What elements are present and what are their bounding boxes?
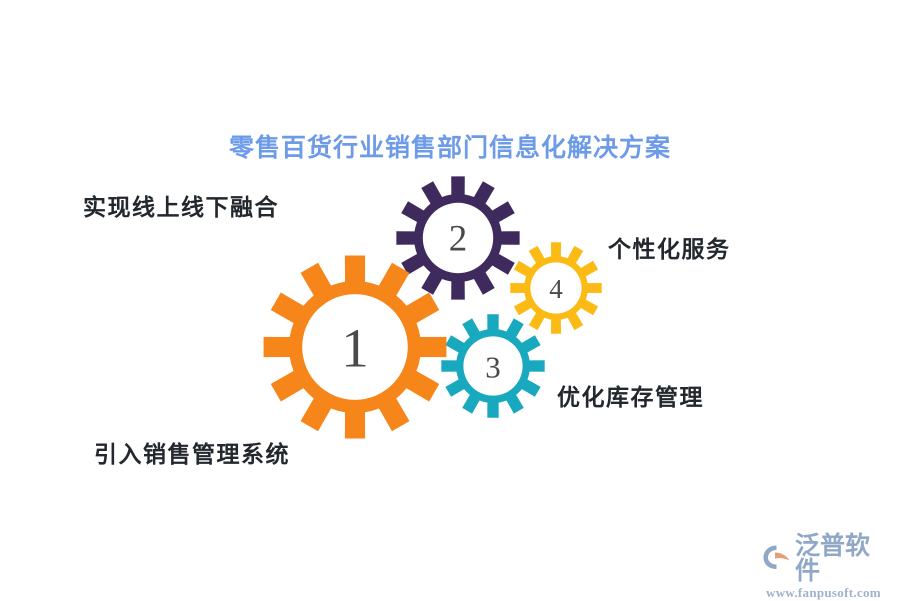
callout-label-personalized-service: 个性化服务 bbox=[608, 230, 731, 264]
callout-label-sales-system: 引入销售管理系统 bbox=[94, 435, 290, 469]
watermark-url: www.fanpusoft.com bbox=[766, 585, 881, 601]
gear-1-number: 1 bbox=[341, 318, 369, 379]
gear-3[interactable]: 3 bbox=[441, 314, 544, 417]
gear-4[interactable]: 4 bbox=[510, 242, 601, 333]
watermark-brand: 泛普软件 bbox=[795, 534, 894, 584]
callout-label-online-offline: 实现线上线下融合 bbox=[83, 188, 279, 222]
gear-1[interactable]: 1 bbox=[264, 256, 447, 439]
gear-2-number: 2 bbox=[449, 219, 468, 260]
slide-canvas: 零售百货行业销售部门信息化解决方案 3 4 2 1 bbox=[0, 0, 900, 600]
gear-4-number: 4 bbox=[549, 274, 563, 304]
callout-label-inventory-management: 优化库存管理 bbox=[557, 378, 704, 412]
watermark-row: 泛普软件 bbox=[762, 534, 894, 584]
watermark: 泛普软件 www.fanpusoft.com bbox=[762, 534, 894, 588]
gear-3-number: 3 bbox=[485, 350, 501, 385]
fanpu-swoosh-logo-icon bbox=[762, 543, 792, 576]
gear-2[interactable]: 2 bbox=[396, 176, 519, 299]
gear-diagram: 3 4 2 1 bbox=[0, 0, 900, 600]
